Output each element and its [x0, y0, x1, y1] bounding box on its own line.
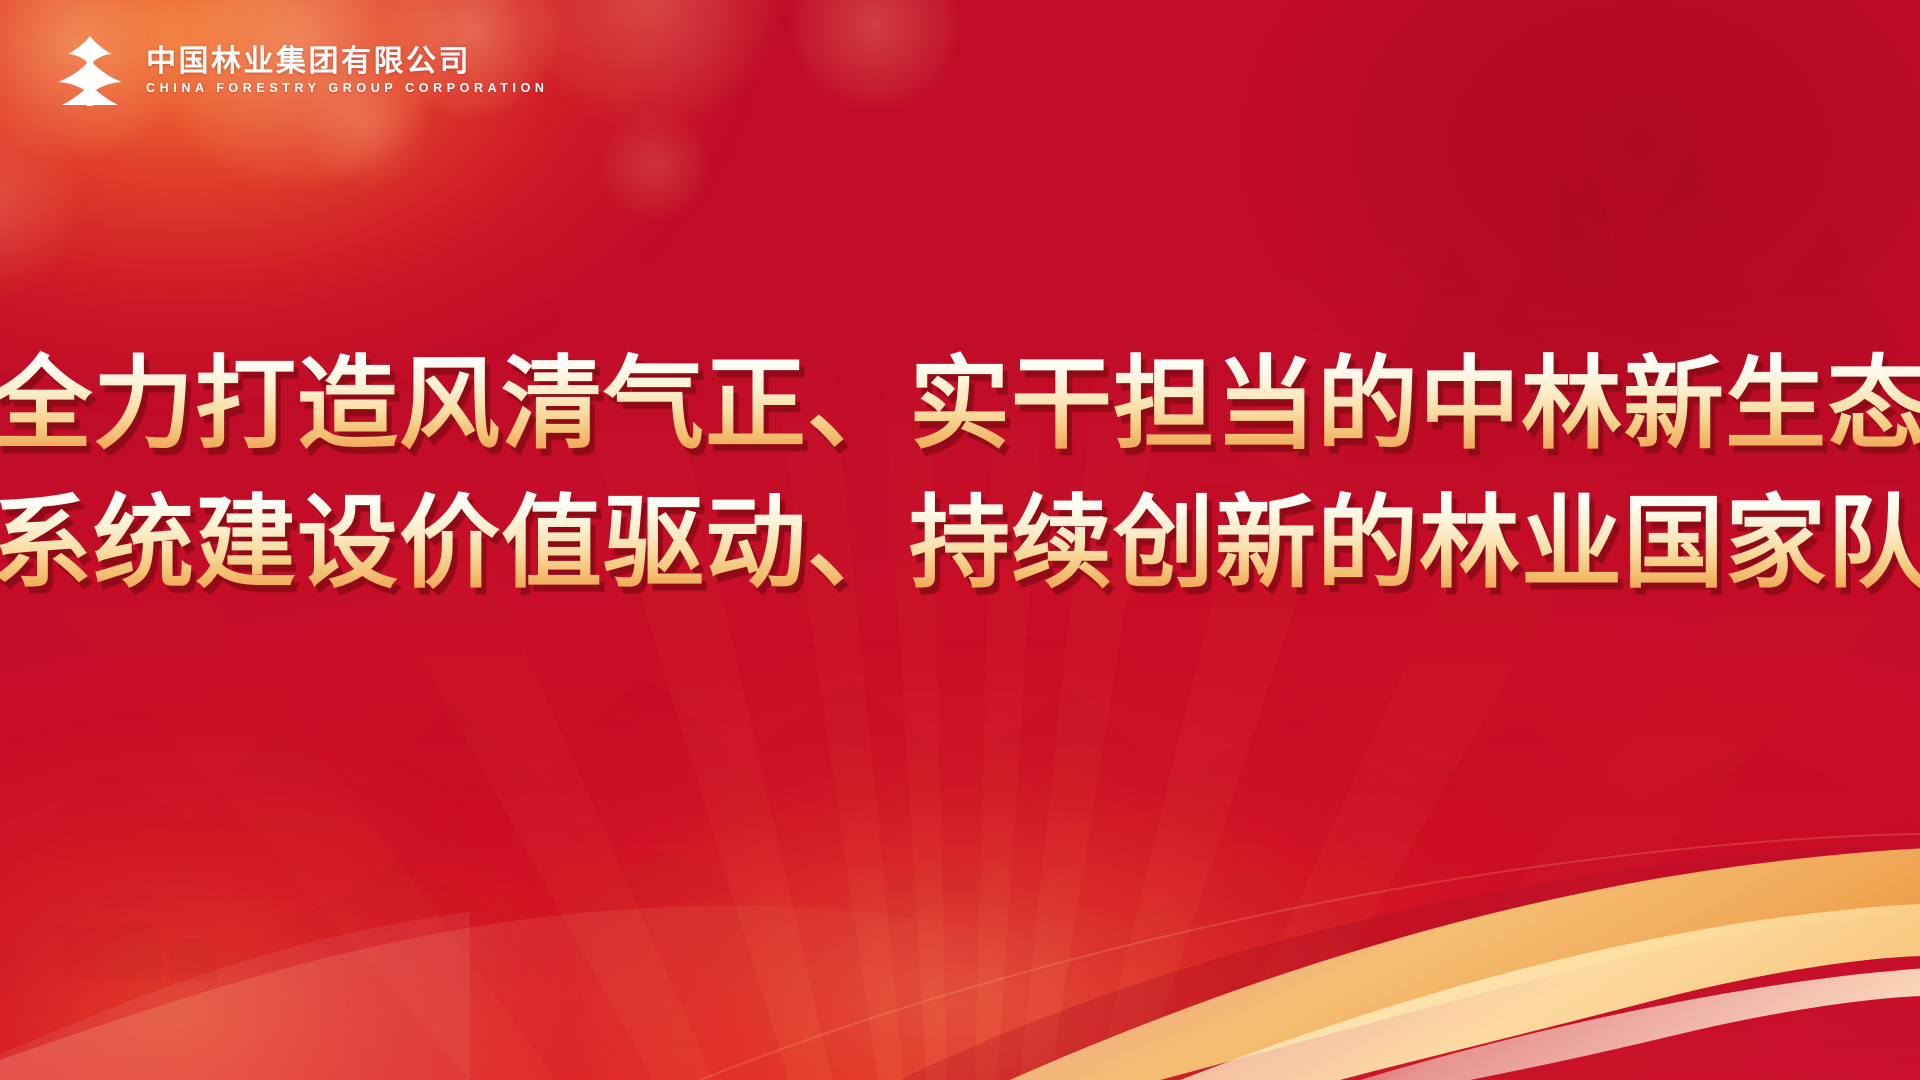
company-name-cn: 中国林业集团有限公司 — [146, 47, 549, 77]
headline-line-2: 系统建设价值驱动、持续创新的林业国家队 系统建设价值驱动、持续创新的林业国家队 — [0, 491, 1920, 596]
logo-text-block: 中国林业集团有限公司 CHINA FORESTRY GROUP CORPORAT… — [146, 47, 549, 95]
company-logo: 中国林业集团有限公司 CHINA FORESTRY GROUP CORPORAT… — [52, 34, 549, 108]
pagoda-mountain-logo-icon — [52, 34, 128, 108]
headline-line-2-text: 系统建设价值驱动、持续创新的林业国家队 — [0, 484, 1920, 602]
company-name-en: CHINA FORESTRY GROUP CORPORATION — [146, 82, 549, 95]
ribbon-left-highlight — [0, 912, 470, 1080]
headline-block: 全力打造风清气正、实干担当的中林新生态 全力打造风清气正、实干担当的中林新生态 … — [0, 352, 1920, 596]
golden-ribbon-swoosh — [0, 620, 1920, 1080]
poster-canvas: 中国林业集团有限公司 CHINA FORESTRY GROUP CORPORAT… — [0, 0, 1920, 1080]
headline-line-1: 全力打造风清气正、实干担当的中林新生态 全力打造风清气正、实干担当的中林新生态 — [0, 352, 1920, 457]
headline-line-1-text: 全力打造风清气正、实干担当的中林新生态 — [0, 345, 1920, 463]
